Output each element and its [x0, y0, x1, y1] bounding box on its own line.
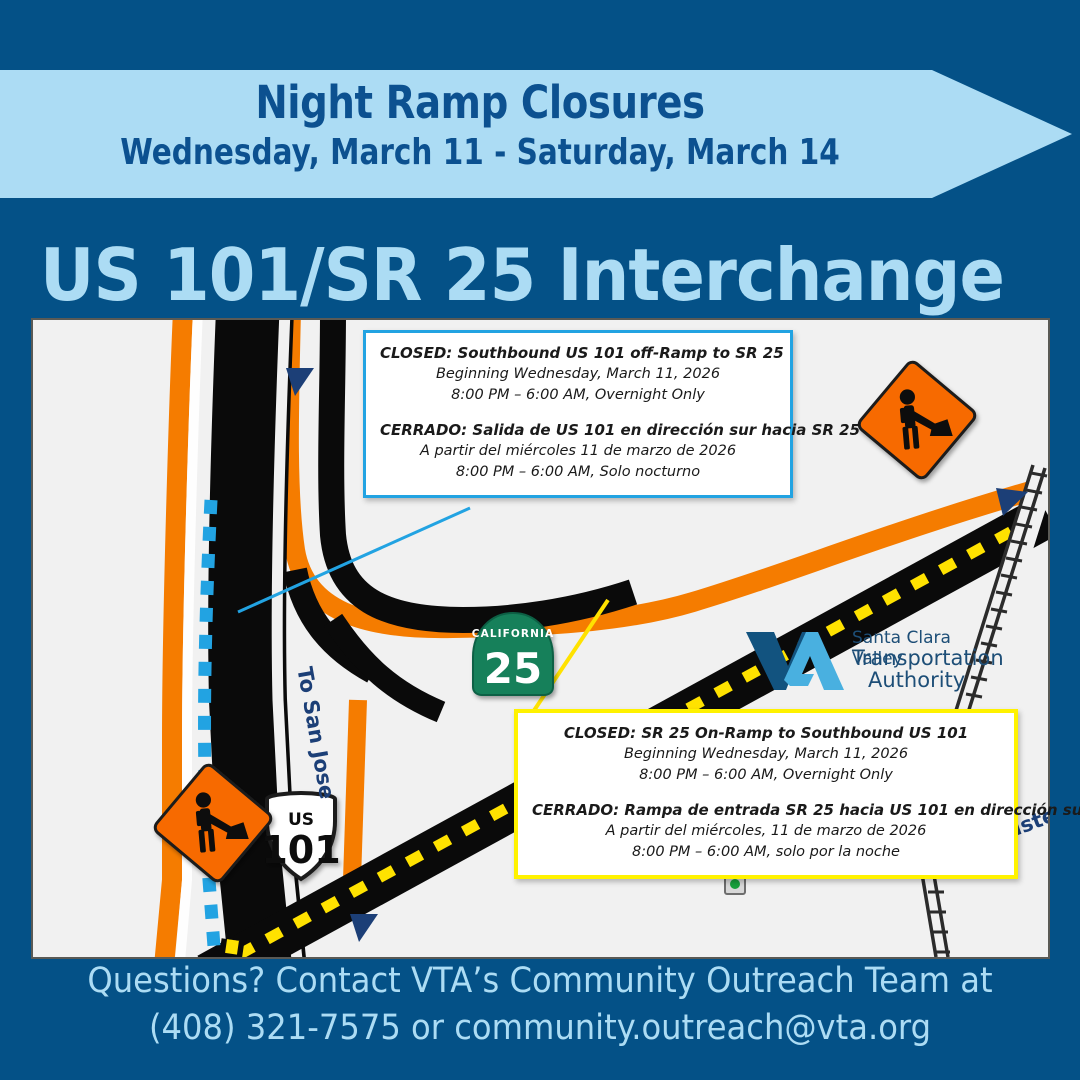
callout-blue-spacer	[380, 406, 776, 420]
poster-root: Night Ramp Closures Wednesday, March 11 …	[0, 0, 1080, 1080]
footer-line-1: Questions? Contact VTA’s Community Outre…	[43, 958, 1037, 1005]
header-banner: Night Ramp Closures Wednesday, March 11 …	[0, 70, 1072, 198]
callout-blue-line-1: CLOSED: Southbound US 101 off-Ramp to SR…	[380, 343, 776, 364]
callout-blue-line-6: 8:00 PM – 6:00 AM, Solo nocturno	[380, 462, 776, 483]
svg-text:CALIFORNIA: CALIFORNIA	[472, 628, 554, 640]
callout-yellow-line-6: 8:00 PM – 6:00 AM, solo por la noche	[532, 842, 1000, 863]
svg-text:US: US	[288, 810, 314, 830]
callout-yellow-line-1: CLOSED: SR 25 On-Ramp to Southbound US 1…	[532, 723, 1000, 744]
callout-blue-line-2: Beginning Wednesday, March 11, 2026	[380, 364, 776, 385]
footer-line-2: (408) 321-7575 or community.outreach@vta…	[43, 1005, 1037, 1052]
vta-logo-line-2: Transportation	[852, 648, 1004, 669]
vta-logo-mark	[744, 628, 848, 694]
callout-yellow-line-2: Beginning Wednesday, March 11, 2026	[532, 744, 1000, 765]
ca-25-shield: CALIFORNIA 25	[472, 613, 554, 695]
callout-box-sr25-onramp: CLOSED: SR 25 On-Ramp to Southbound US 1…	[514, 709, 1018, 879]
callout-yellow-line-4: CERRADO: Rampa de entrada SR 25 hacia US…	[532, 800, 1000, 821]
us-101-shield: US 101	[261, 793, 340, 879]
callout-box-southbound-offramp: CLOSED: Southbound US 101 off-Ramp to SR…	[363, 330, 793, 498]
callout-yellow-spacer	[532, 786, 1000, 800]
svg-text:101: 101	[261, 828, 340, 872]
banner-title: Night Ramp Closures	[67, 76, 893, 129]
callout-blue-line-5: A partir del miércoles 11 de marzo de 20…	[380, 441, 776, 462]
banner-subtitle: Wednesday, March 11 - Saturday, March 14	[86, 132, 873, 173]
callout-yellow-line-5: A partir del miércoles, 11 de marzo de 2…	[532, 821, 1000, 842]
callout-yellow-line-3: 8:00 PM – 6:00 AM, Overnight Only	[532, 765, 1000, 786]
page-title: US 101/SR 25 Interchange	[40, 233, 970, 317]
callout-blue-line-4: CERRADO: Salida de US 101 en dirección s…	[380, 420, 776, 441]
callout-blue-line-3: 8:00 PM – 6:00 AM, Overnight Only	[380, 385, 776, 406]
vta-logo: Santa Clara Valley Transportation Author…	[744, 628, 984, 696]
svg-text:25: 25	[484, 644, 542, 693]
vta-logo-line-3: Authority	[852, 670, 965, 691]
footer-contact: Questions? Contact VTA’s Community Outre…	[0, 958, 1080, 1052]
